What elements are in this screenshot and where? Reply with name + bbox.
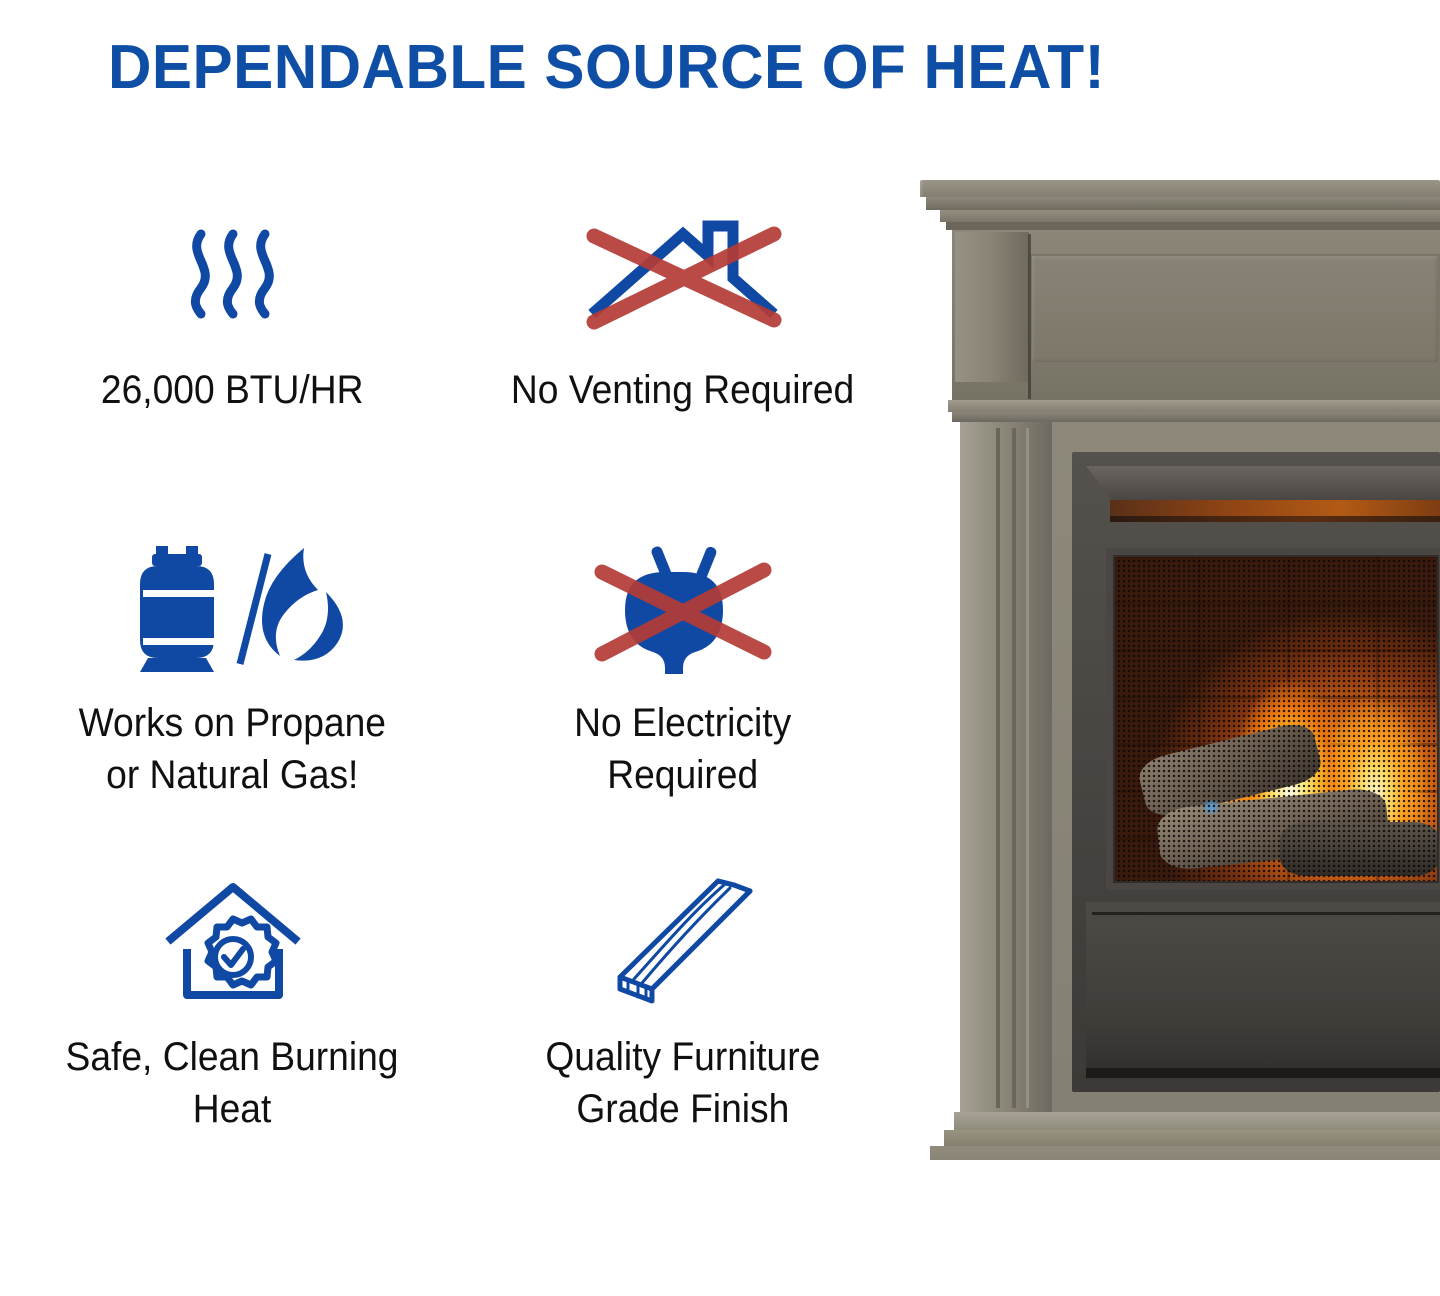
feature-label-line: Required (574, 749, 791, 801)
hearth-base-top (954, 1112, 1440, 1130)
mantel-crown-lower (940, 210, 1440, 222)
firebox-glow-bar (1110, 500, 1440, 516)
hearth-base (930, 1146, 1440, 1160)
mantel-recessed-panel (1030, 254, 1440, 364)
mantel-shelf-shadow (952, 412, 1440, 422)
pilaster-flute (1012, 428, 1016, 1108)
house-gear-check-icon (163, 867, 303, 1017)
no-electricity-plug-icon (588, 533, 778, 683)
firebox-lower-panel (1086, 902, 1440, 1072)
gas-fireplace-mantel-photo (900, 150, 1440, 1160)
pilaster-flute (996, 428, 1000, 1108)
propane-tank-and-flame-icon (118, 533, 348, 683)
no-venting-icon (578, 200, 788, 350)
feature-label-line: Quality Furniture (545, 1031, 820, 1083)
firebox-lower-seam (1092, 912, 1440, 915)
mantel-crown-step (926, 197, 1440, 210)
mantel-crown-edge (946, 222, 1440, 230)
page-title: DEPENDABLE SOURCE OF HEAT! (108, 28, 1175, 108)
feature-item-fuel: Works on Propane or Natural Gas! (0, 523, 465, 856)
feature-label-line: Safe, Clean Burning (66, 1031, 399, 1083)
feature-label-no-electricity: No Electricity Required (574, 697, 791, 801)
feature-label-line: or Natural Gas! (79, 749, 386, 801)
feature-label-line: Grade Finish (545, 1083, 820, 1135)
feature-item-no-electricity: No Electricity Required (465, 523, 900, 856)
mantel-pilaster-leg (960, 422, 1052, 1112)
mantel-corbel (955, 232, 1029, 382)
feature-label-fuel: Works on Propane or Natural Gas! (79, 697, 386, 801)
mantel-shelf-band (948, 400, 1440, 412)
feature-item-safe-heat: Safe, Clean Burning Heat (0, 857, 465, 1190)
feature-item-finish: Quality Furniture Grade Finish (465, 857, 900, 1190)
hearth-base-step (944, 1130, 1440, 1146)
firebox-top-bevel (1086, 466, 1440, 500)
feature-label-line: Heat (66, 1083, 399, 1135)
heat-waves-icon (168, 200, 298, 350)
feature-label-safe-heat: Safe, Clean Burning Heat (66, 1031, 399, 1135)
mantel-seam (1028, 234, 1031, 399)
feature-item-no-venting: No Venting Required (465, 190, 900, 523)
feature-item-btu: 26,000 BTU/HR (0, 190, 465, 523)
feature-label-line: No Venting Required (511, 364, 854, 416)
lumber-board-icon (612, 867, 754, 1017)
mantel-crown-molding (920, 180, 1440, 197)
feature-label-no-venting: No Venting Required (511, 364, 854, 416)
firebox-bottom-gap (1086, 1068, 1440, 1078)
feature-label-line: No Electricity (574, 697, 791, 749)
firebox-glow-shadow (1110, 516, 1440, 522)
pilaster-highlight (1026, 428, 1029, 1108)
feature-label-finish: Quality Furniture Grade Finish (545, 1031, 820, 1135)
feature-label-line: 26,000 BTU/HR (101, 364, 364, 416)
feature-label-btu: 26,000 BTU/HR (101, 364, 364, 416)
feature-grid: 26,000 BTU/HR No Venting Required (0, 190, 900, 1190)
feature-label-line: Works on Propane (79, 697, 386, 749)
photo-edge-fade (900, 150, 924, 1160)
firebox-window-frame (1106, 548, 1440, 890)
